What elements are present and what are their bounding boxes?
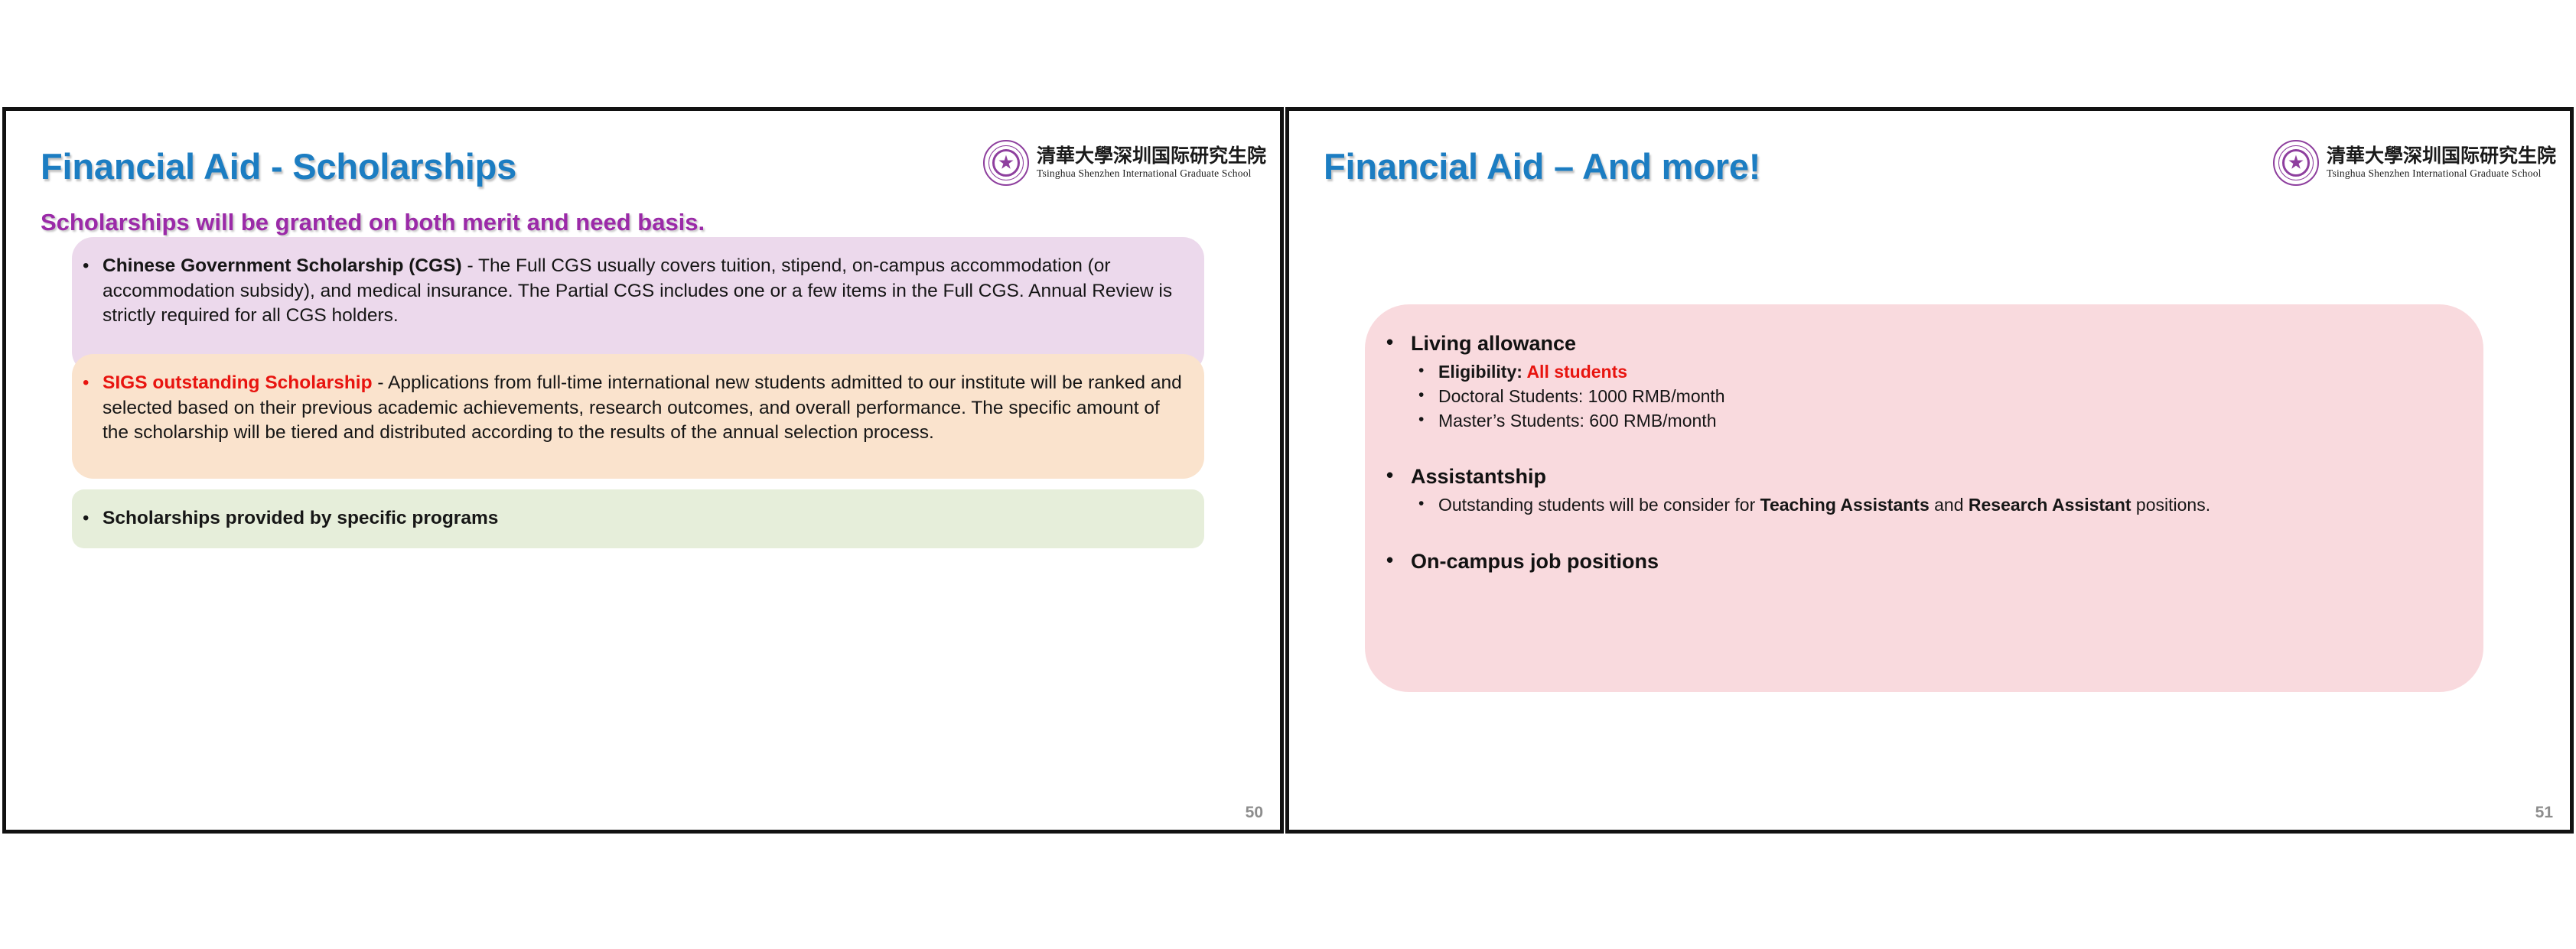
- logo-english-name: Tsinghua Shenzhen International Graduate…: [2327, 168, 2556, 180]
- slide-financial-aid-and-more: Financial Aid – And more! 清華大學深圳国际研究生院 T…: [1285, 107, 2574, 834]
- list-item-program-scholarships: • Scholarships provided by specific prog…: [77, 506, 1186, 531]
- star-icon: [2288, 155, 2304, 171]
- sub-item-value2: Research Assistant: [1969, 495, 2131, 515]
- page-title: Financial Aid – And more!: [1324, 145, 1760, 187]
- slide-financial-aid-scholarships: Financial Aid - Scholarships Scholarship…: [2, 107, 1284, 834]
- scholarships-box-green: • Scholarships provided by specific prog…: [72, 489, 1204, 548]
- logo-chinese-name: 清華大學深圳国际研究生院: [2327, 146, 2556, 166]
- sub-item-label: Eligibility:: [1438, 362, 1526, 382]
- group-heading: Assistantship: [1411, 465, 1546, 488]
- list-item-eligibility: • Eligibility: All students: [1411, 360, 2453, 385]
- group-heading: On-campus job positions: [1411, 550, 1659, 573]
- university-seal-icon: [983, 140, 1029, 186]
- list-item-doctoral-allowance: • Doctoral Students: 1000 RMB/month: [1411, 385, 2453, 409]
- tsinghua-sigs-logo: 清華大學深圳国际研究生院 Tsinghua Shenzhen Internati…: [2273, 140, 2556, 186]
- list-item-assistant-positions: • Outstanding students will be consider …: [1411, 493, 2453, 518]
- page-number: 51: [2535, 804, 2553, 822]
- sub-item-label: Master’s Students: 600 RMB/month: [1438, 411, 1717, 431]
- sub-item-label: Outstanding students will be consider fo…: [1438, 495, 1760, 515]
- page-title: Financial Aid - Scholarships: [41, 145, 516, 187]
- list-item-cgs: • Chinese Government Scholarship (CGS) -…: [77, 254, 1186, 329]
- bullet-icon: •: [83, 254, 89, 278]
- logo-wordmark: 清華大學深圳国际研究生院 Tsinghua Shenzhen Internati…: [2327, 146, 2556, 179]
- page-subtitle: Scholarships will be granted on both mer…: [41, 209, 705, 236]
- sub-item-value: Teaching Assistants: [1760, 495, 1930, 515]
- list-item-oncampus-jobs: • On-campus job positions: [1382, 548, 2453, 575]
- logo-wordmark: 清華大學深圳国际研究生院 Tsinghua Shenzhen Internati…: [1037, 146, 1266, 179]
- list-item-sigs-outstanding-scholarship: • SIGS outstanding Scholarship - Applica…: [77, 371, 1186, 446]
- slide-deck: Financial Aid - Scholarships Scholarship…: [0, 0, 2576, 949]
- list-item-living-allowance: • Living allowance • Eligibility: All st…: [1382, 330, 2453, 433]
- bullet-icon: •: [83, 506, 89, 531]
- tsinghua-sigs-logo: 清華大學深圳国际研究生院 Tsinghua Shenzhen Internati…: [983, 140, 1266, 186]
- logo-chinese-name: 清華大學深圳国际研究生院: [1037, 146, 1266, 166]
- bullet-icon: •: [1418, 360, 1424, 382]
- star-icon: [998, 155, 1014, 171]
- university-seal-icon: [2273, 140, 2319, 186]
- sub-item-join: and: [1930, 495, 1969, 515]
- bullet-icon: •: [1386, 548, 1393, 574]
- bullet-icon: •: [1386, 463, 1393, 489]
- list-item-lead: Scholarships provided by specific progra…: [103, 508, 498, 528]
- sub-item-value: All students: [1526, 362, 1627, 382]
- bullet-icon: •: [1418, 493, 1424, 515]
- page-number: 50: [1246, 804, 1263, 822]
- bullet-list: • Living allowance • Eligibility: All st…: [1382, 330, 2453, 575]
- sub-item-tail: positions.: [2131, 495, 2211, 515]
- list-item-assistantship: • Assistantship • Outstanding students w…: [1382, 463, 2453, 518]
- bullet-list: • SIGS outstanding Scholarship - Applica…: [77, 371, 1186, 446]
- logo-english-name: Tsinghua Shenzhen International Graduate…: [1037, 168, 1266, 180]
- scholarships-box-purple: • Chinese Government Scholarship (CGS) -…: [72, 237, 1204, 373]
- list-item-master-allowance: • Master’s Students: 600 RMB/month: [1411, 409, 2453, 434]
- and-more-box-pink: • Living allowance • Eligibility: All st…: [1365, 304, 2483, 692]
- sub-bullet-list: • Eligibility: All students • Doctoral S…: [1411, 360, 2453, 433]
- bullet-icon: •: [1386, 330, 1393, 356]
- bullet-icon: •: [1418, 385, 1424, 407]
- bullet-icon: •: [1418, 409, 1424, 431]
- sub-item-label: Doctoral Students: 1000 RMB/month: [1438, 386, 1725, 406]
- bullet-icon: •: [83, 371, 89, 395]
- scholarships-box-peach: • SIGS outstanding Scholarship - Applica…: [72, 354, 1204, 479]
- sub-bullet-list: • Outstanding students will be consider …: [1411, 493, 2453, 518]
- list-item-lead: SIGS outstanding Scholarship: [103, 372, 373, 393]
- list-item-lead: Chinese Government Scholarship (CGS): [103, 255, 462, 276]
- group-heading: Living allowance: [1411, 332, 1576, 355]
- bullet-list: • Scholarships provided by specific prog…: [77, 506, 1186, 531]
